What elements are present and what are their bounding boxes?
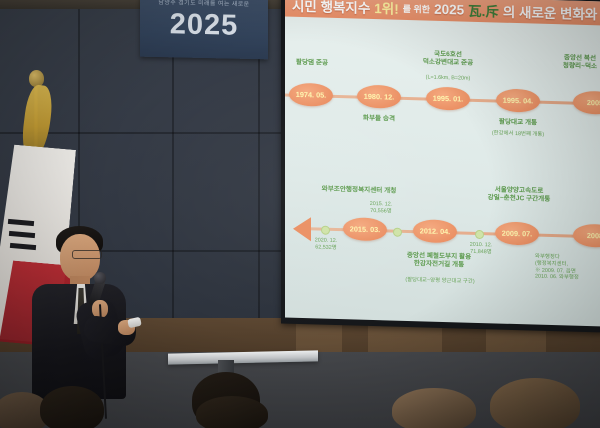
- node-label-above: 팔당댐 준공: [285, 58, 347, 68]
- node-label-above: 와부조안행정복지센터 개청: [301, 185, 417, 196]
- timeline-node[interactable]: 2008: [573, 224, 600, 248]
- header-part3: 의 새로운 변화와: [503, 1, 597, 24]
- node-label-sub: (한강에서 18번째 개통): [467, 130, 569, 140]
- node-label-below: 화부들 승격: [347, 114, 411, 124]
- node-label-above: 중앙선 복선 청량리~덕소: [543, 54, 600, 73]
- timeline-minidot: [475, 230, 484, 239]
- header-part1: 시민 행복지수: [292, 0, 370, 17]
- header-hanja: 瓦.斥: [468, 0, 499, 21]
- node-label-sub: 2015. 12. 70,556명: [351, 200, 411, 215]
- timeline-row-2: 와부조안행정복지센터 개청 2015. 12. 70,556명 2020. 12…: [285, 175, 600, 314]
- presentation-slide: 시민 행복지수 1위! 를 위한 2025 瓦.斥 의 새로운 변화와 도 팔당…: [285, 0, 600, 326]
- timeline-node[interactable]: 1995. 04.: [496, 88, 540, 112]
- timeline-node[interactable]: 2005: [573, 91, 600, 115]
- node-label-below: 2020. 12. 62,532명: [301, 237, 351, 252]
- node-label-below: 와부행정다 (행정복지센터, ※ 2009. 07. 읍면 2010. 06. …: [535, 254, 600, 283]
- timeline-minidot: [321, 226, 330, 235]
- presenter: [18, 222, 158, 397]
- header-part2: 를 위한: [403, 1, 430, 15]
- node-label-sub: 2010. 12. 71,848명: [455, 241, 507, 256]
- timeline-node[interactable]: 2012. 04.: [413, 219, 457, 243]
- timeline-node[interactable]: 1974. 05.: [289, 83, 333, 107]
- banner-year: 2025: [140, 8, 268, 44]
- microphone-head-icon: [94, 272, 106, 284]
- node-label-sub: (L=1.6km, B=20m): [403, 74, 493, 83]
- node-label-above: 서울양양고속도로 강일~춘천JC 구간개통: [461, 185, 577, 205]
- audience-head: [392, 388, 476, 428]
- presenter-clicker[interactable]: [127, 317, 142, 329]
- node-label-above: 국도6호선 덕소강변대교 준공: [403, 50, 493, 69]
- timeline-row-1: 팔당댐 준공 1974. 05. 1980. 12. 화부들 승격 국도6호선 …: [285, 45, 600, 159]
- wall-banner-2025: 남양주 경기도 미래를 여는 새로운 2025: [140, 0, 268, 59]
- timeline-node[interactable]: 1995. 01.: [426, 86, 470, 110]
- glasses-icon: [72, 250, 102, 259]
- conference-photo: 남양주 경기도 미래를 여는 새로운 2025 시민 행복지수 1위! 를 위한…: [0, 0, 600, 428]
- header-rank: 1위!: [374, 0, 398, 18]
- audience-head: [196, 396, 268, 428]
- slide-header: 시민 행복지수 1위! 를 위한 2025 瓦.斥 의 새로운 변화와 도: [285, 0, 600, 26]
- audience-head: [40, 386, 104, 428]
- node-label-below: 팔당대교 개통: [471, 118, 565, 129]
- timeline-minidot: [393, 228, 402, 237]
- wall-seam: [172, 9, 174, 339]
- projection-screen: 시민 행복지수 1위! 를 위한 2025 瓦.斥 의 새로운 변화와 도 팔당…: [285, 0, 600, 326]
- header-year: 2025: [434, 1, 464, 17]
- timeline-node[interactable]: 1980. 12.: [357, 85, 401, 109]
- audience-head: [490, 378, 580, 428]
- node-label-sub: (팔당대교~양평 양근대교 구간): [377, 276, 503, 286]
